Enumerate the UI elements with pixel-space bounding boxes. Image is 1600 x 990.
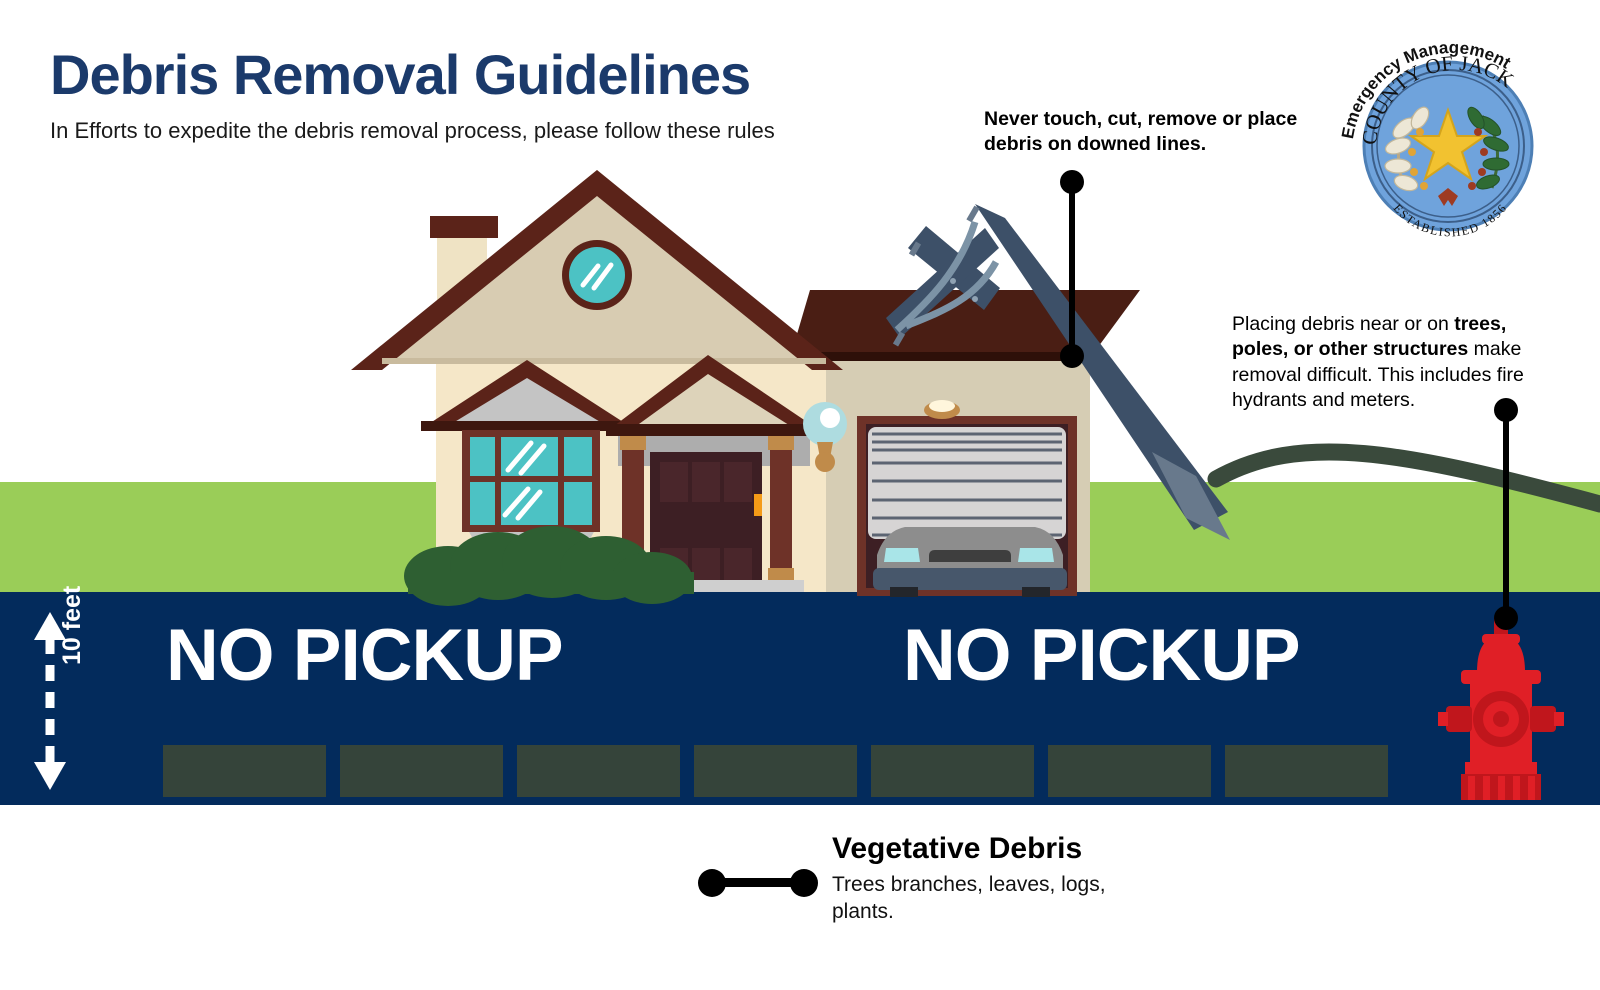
road-block bbox=[163, 745, 326, 797]
connector-dot-left-vegetative bbox=[698, 869, 726, 897]
road-block bbox=[871, 745, 1034, 797]
car-headlight-left bbox=[884, 548, 920, 562]
callout-trees-poles: Placing debris near or on trees, poles, … bbox=[1232, 312, 1552, 413]
no-pickup-label-right: NO PICKUP bbox=[903, 614, 1300, 697]
road-block bbox=[1225, 745, 1388, 797]
downed-power-line bbox=[1216, 452, 1600, 504]
porch-lantern-shine bbox=[820, 408, 840, 428]
hydrant-outlet-left bbox=[1446, 706, 1472, 732]
callout-downed-lines: Never touch, cut, remove or place debris… bbox=[984, 107, 1304, 158]
measure-arrow-head-bottom bbox=[34, 762, 66, 790]
hydrant-cap-right bbox=[1554, 712, 1564, 726]
connector-dot-top-downed-lines bbox=[1060, 170, 1084, 194]
window-awning-fascia bbox=[421, 421, 634, 431]
infographic-canvas: Debris Removal Guidelines In Efforts to … bbox=[0, 0, 1600, 990]
door-panel-6 bbox=[724, 548, 752, 582]
garage-light-bulb bbox=[929, 400, 955, 412]
car-tire-left bbox=[890, 587, 918, 597]
chimney-cap bbox=[430, 216, 498, 238]
connector-dot-right-vegetative bbox=[790, 869, 818, 897]
hydrant-outlet-right bbox=[1530, 706, 1556, 732]
attic-window-glass bbox=[569, 247, 625, 303]
pole-bolt-1 bbox=[950, 278, 956, 284]
page-title: Debris Removal Guidelines bbox=[50, 42, 750, 107]
door-panel-5 bbox=[692, 548, 720, 582]
callout-trees-part1: Placing debris near or on bbox=[1232, 313, 1454, 335]
car-headlight-right bbox=[1018, 548, 1054, 562]
door-panel-1 bbox=[660, 462, 688, 502]
road-block bbox=[1048, 745, 1211, 797]
window-mullion-h bbox=[470, 476, 592, 482]
window-mullion-v1 bbox=[495, 437, 501, 525]
hydrant-flange bbox=[1461, 670, 1541, 684]
window-mullion-v2 bbox=[558, 437, 564, 525]
connector-line-hydrant bbox=[1503, 412, 1509, 618]
column-right bbox=[770, 436, 792, 590]
door-panel-2 bbox=[692, 462, 720, 502]
car-tire-right bbox=[1022, 587, 1050, 597]
column-left-cap bbox=[620, 436, 646, 450]
no-pickup-label-left: NO PICKUP bbox=[166, 614, 563, 697]
door-panel-3 bbox=[724, 462, 752, 502]
car-bumper bbox=[873, 568, 1067, 590]
connector-line-downed-lines bbox=[1069, 182, 1075, 358]
measure-label: 10 feet bbox=[58, 586, 87, 665]
door-handle bbox=[754, 494, 762, 516]
vegetative-debris-title: Vegetative Debris bbox=[832, 832, 1082, 866]
garage-rolling-door bbox=[868, 427, 1066, 539]
porch-lantern-base bbox=[815, 452, 835, 472]
portico-fascia bbox=[606, 424, 822, 436]
road-block bbox=[340, 745, 503, 797]
hydrant-cap-left bbox=[1438, 712, 1448, 726]
car-grille bbox=[929, 550, 1011, 562]
pole-bolt-2 bbox=[972, 296, 978, 302]
hydrant-face-center bbox=[1493, 711, 1509, 727]
county-seal: Emergency Management COUNTY OF JACK ESTA… bbox=[1338, 28, 1554, 244]
road-dash-blocks bbox=[0, 745, 1600, 797]
page-subtitle: In Efforts to expedite the debris remova… bbox=[50, 118, 775, 144]
column-right-cap bbox=[768, 436, 794, 450]
vegetative-debris-body: Trees branches, leaves, logs, plants. bbox=[832, 872, 1162, 926]
bottom-white-band bbox=[0, 805, 1600, 990]
connector-dot-bottom-hydrant bbox=[1494, 606, 1518, 630]
gable-roof-line bbox=[382, 358, 826, 364]
connector-dot-bottom-downed-lines bbox=[1060, 344, 1084, 368]
road-block bbox=[517, 745, 680, 797]
garage-roof-fascia bbox=[790, 352, 1090, 361]
road-block bbox=[694, 745, 857, 797]
